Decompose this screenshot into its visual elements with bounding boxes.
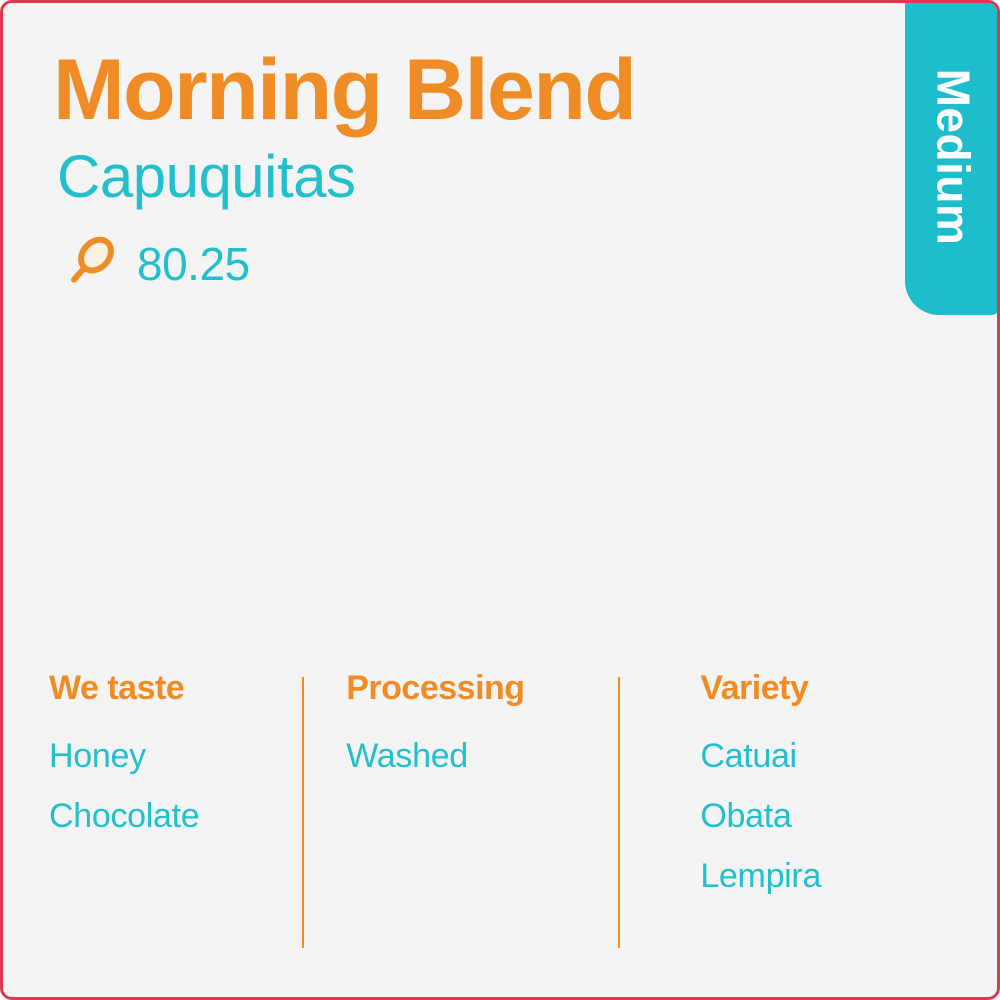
attribute-heading: Processing [346, 671, 618, 705]
label-header: Morning Blend Capuquitas 80.25 [53, 47, 697, 295]
coffee-label-card: Medium Morning Blend Capuquitas 80.25 We… [0, 0, 1000, 1000]
cupping-score-value: 80.25 [137, 241, 250, 287]
attribute-item: Catuai [700, 739, 957, 773]
product-title: Morning Blend [53, 47, 697, 133]
cupping-score-row: 80.25 [57, 233, 697, 295]
attributes-section: We taste Honey Chocolate Processing Wash… [49, 671, 957, 953]
spoon-icon [57, 233, 119, 295]
attribute-heading: Variety [700, 671, 957, 705]
roast-level-badge: Medium [905, 0, 1000, 315]
attribute-column-processing: Processing Washed [302, 671, 618, 953]
attribute-list: Catuai Obata Lempira [700, 739, 957, 919]
attribute-heading: We taste [49, 671, 302, 705]
attribute-item: Lempira [700, 859, 957, 893]
attribute-list: Washed [346, 739, 618, 799]
attribute-column-we-taste: We taste Honey Chocolate [49, 671, 302, 953]
attribute-item: Chocolate [49, 799, 302, 833]
attribute-list: Honey Chocolate [49, 739, 302, 859]
column-divider [302, 677, 304, 948]
roast-level-label: Medium [926, 69, 980, 246]
attribute-item: Obata [700, 799, 957, 833]
attribute-item: Honey [49, 739, 302, 773]
product-origin: Capuquitas [57, 147, 697, 207]
attribute-item: Washed [346, 739, 618, 773]
attribute-column-variety: Variety Catuai Obata Lempira [618, 671, 957, 953]
column-divider [618, 677, 620, 948]
